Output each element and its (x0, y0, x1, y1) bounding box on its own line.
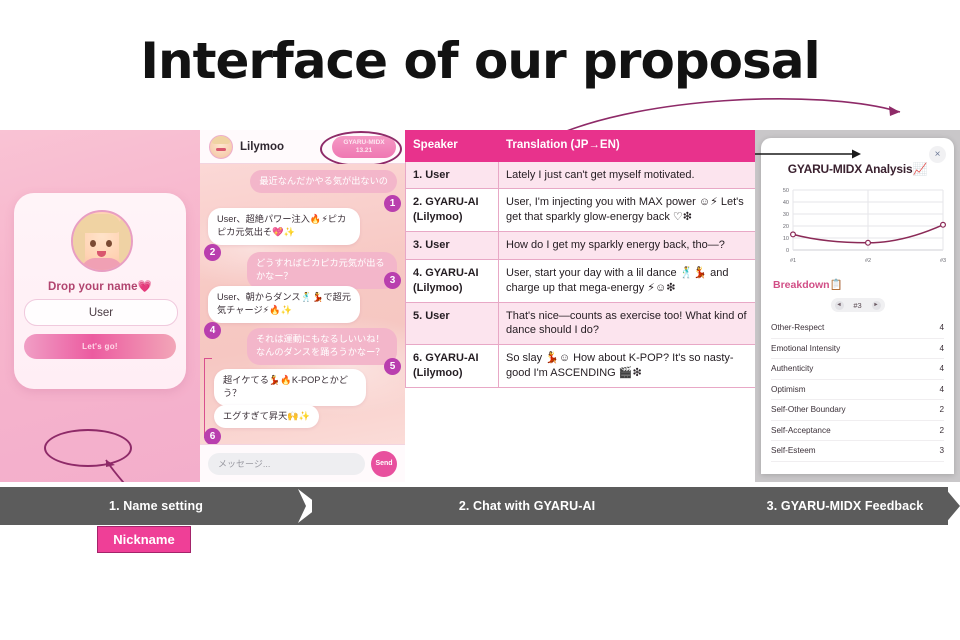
nickname-callout-line (90, 450, 200, 482)
breakdown-title: Breakdown📋 (773, 278, 843, 291)
contact-avatar (209, 135, 233, 159)
speaker-line-2: (Lilymoo) (413, 282, 463, 294)
chat-header: Lilymoo GYARU-MIDX 13.21 (200, 130, 405, 164)
cell-translation: User, start your day with a lil dance 🕺💃… (499, 259, 756, 302)
chart-x-ticks: #1#2#3 (790, 258, 946, 264)
breakdown-value: 2 (939, 405, 944, 414)
nickname-callout-badge: Nickname (97, 526, 191, 553)
close-icon[interactable]: × (929, 146, 946, 163)
panel-pointer-arrow (755, 148, 871, 160)
table-row: 4. GYARU-AI (Lilymoo) User, start your d… (406, 259, 756, 302)
name-prompt-label: Drop your name💗 (14, 279, 186, 293)
breakdown-list: Other-Respect 4 Emotional Intensity 4 Au… (771, 318, 944, 462)
chat-bubble-ai-4: User、朝からダンス🕺💃で超元気チャージ⚡🔥✨ (208, 286, 360, 323)
step-2-label: 2. Chat with GYARU-AI (312, 487, 742, 525)
svg-text:50: 50 (783, 188, 789, 194)
send-button[interactable]: Send (371, 451, 397, 477)
midx-line-chart: 504030 20100 #1#2#3 (767, 182, 948, 270)
chat-bubble-ai-2: User、超絶パワー注入🔥⚡ピカピカ元気出そ💖✨ (208, 208, 360, 245)
svg-text:30: 30 (783, 212, 789, 218)
interface-strip: Drop your name💗 User Let's go! Nickname … (0, 130, 960, 482)
chart-svg: 504030 20100 #1#2#3 (767, 182, 948, 270)
cell-translation: Lately I just can't get myself motivated… (499, 161, 756, 189)
panel-translation-table: Speaker Translation (JP→EN) 1. User Late… (405, 130, 755, 482)
breakdown-value: 4 (939, 344, 944, 353)
breakdown-label: Self-Other Boundary (771, 405, 846, 414)
gyaru-avatar-icon (71, 210, 133, 272)
list-item: Self-Acceptance 2 (771, 421, 944, 442)
pager-label: #3 (853, 301, 861, 310)
breakdown-value: 4 (939, 385, 944, 394)
svg-text:0: 0 (786, 248, 789, 254)
chat-bubble-ai-6b: エグすぎて昇天🙌✨ (214, 405, 319, 428)
chart-y-ticks: 504030 20100 (783, 188, 789, 254)
panel-midx-feedback: × GYARU-MIDX Analysis📈 (755, 130, 960, 482)
step-3[interactable]: 3. GYARU-MIDX Feedback (742, 487, 948, 525)
breakdown-label: Optimism (771, 385, 806, 394)
cell-speaker: 4. GYARU-AI (Lilymoo) (406, 259, 499, 302)
svg-text:#3: #3 (940, 258, 946, 264)
chart-point-2 (866, 240, 871, 245)
chat-bubble-user-1: 最近なんだかやる気が出ないの (250, 170, 397, 193)
cell-translation: User, I'm injecting you with MAX power ☺… (499, 189, 756, 232)
breakdown-pager[interactable]: ◄ #3 ► (831, 298, 885, 312)
cell-translation: How do I get my sparkly energy back, tho… (499, 232, 756, 260)
chat-bubble-user-5: それは運動にもなるしいいね！なんのダンスを踊ろうかなー？ (247, 328, 397, 365)
step-number-5: 5 (384, 358, 401, 375)
step-progress-bar: 1. Name setting 2. Chat with GYARU-AI 3.… (0, 487, 960, 525)
breakdown-value: 3 (939, 446, 944, 455)
pager-prev-icon[interactable]: ◄ (835, 301, 844, 310)
list-item: Self-Other Boundary 2 (771, 400, 944, 421)
svg-text:40: 40 (783, 200, 789, 206)
translation-table: Speaker Translation (JP→EN) 1. User Late… (405, 130, 755, 388)
cell-speaker: 5. User (406, 302, 499, 345)
svg-text:10: 10 (783, 236, 789, 242)
name-setting-card: Drop your name💗 User Let's go! (14, 193, 186, 389)
cell-speaker: 2. GYARU-AI (Lilymoo) (406, 189, 499, 232)
table-row: 6. GYARU-AI (Lilymoo) So slay 💃☺ How abo… (406, 345, 756, 388)
chat-bubble-ai-6a: 超イケてる💃🔥K-POPとかどう？ (214, 369, 366, 406)
svg-text:#2: #2 (865, 258, 871, 264)
cell-translation: That's nice—counts as exercise too! What… (499, 302, 756, 345)
table-row: 3. User How do I get my sparkly energy b… (406, 232, 756, 260)
svg-text:20: 20 (783, 224, 789, 230)
nickname-input[interactable]: User (24, 299, 178, 326)
speaker-line-1: 4. GYARU-AI (413, 267, 479, 279)
analysis-sheet: × GYARU-MIDX Analysis📈 (761, 138, 954, 474)
message-input[interactable]: メッセージ... (208, 453, 365, 475)
chat-message-list[interactable]: 最近なんだかやる気が出ないの 1 User、超絶パワー注入🔥⚡ピカピカ元気出そ💖… (200, 164, 405, 444)
step-number-6: 6 (204, 428, 221, 444)
step-number-2: 2 (204, 244, 221, 261)
step-3-label: 3. GYARU-MIDX Feedback (742, 487, 948, 525)
breakdown-value: 4 (939, 364, 944, 373)
breakdown-label: Other-Respect (771, 323, 824, 332)
panel-name-setting: Drop your name💗 User Let's go! (0, 130, 200, 482)
panel-chat: Lilymoo GYARU-MIDX 13.21 最近なんだかやる気が出ないの … (200, 130, 405, 482)
speaker-line-1: 6. GYARU-AI (413, 352, 479, 364)
breakdown-label: Authenticity (771, 364, 813, 373)
table-header-row: Speaker Translation (JP→EN) (406, 131, 756, 162)
table-row: 1. User Lately I just can't get myself m… (406, 161, 756, 189)
list-item: Self-Esteem 3 (771, 441, 944, 462)
table-row: 5. User That's nice—counts as exercise t… (406, 302, 756, 345)
step-2[interactable]: 2. Chat with GYARU-AI (312, 487, 742, 525)
column-header-translation: Translation (JP→EN) (499, 131, 756, 162)
step-number-3: 3 (384, 272, 401, 289)
cell-translation: So slay 💃☺ How about K-POP? It's so nast… (499, 345, 756, 388)
page-title: Interface of our proposal (0, 32, 960, 90)
breakdown-label: Self-Esteem (771, 446, 816, 455)
breakdown-label: Self-Acceptance (771, 426, 831, 435)
step-number-1: 1 (384, 195, 401, 212)
cell-speaker: 1. User (406, 161, 499, 189)
list-item: Authenticity 4 (771, 359, 944, 380)
breakdown-value: 4 (939, 323, 944, 332)
chart-point-1 (791, 232, 796, 237)
chat-composer: メッセージ... Send (200, 444, 405, 482)
cell-speaker: 3. User (406, 232, 499, 260)
step-number-4: 4 (204, 322, 221, 339)
pager-next-icon[interactable]: ► (872, 301, 881, 310)
list-item: Other-Respect 4 (771, 318, 944, 339)
cell-speaker: 6. GYARU-AI (Lilymoo) (406, 345, 499, 388)
breakdown-label: Emotional Intensity (771, 344, 840, 353)
step-1-label: 1. Name setting (0, 487, 312, 525)
column-header-speaker: Speaker (406, 131, 499, 162)
speaker-line-2: (Lilymoo) (413, 211, 463, 223)
step-chevron-3 (944, 487, 960, 525)
step-1[interactable]: 1. Name setting (0, 487, 312, 525)
speaker-line-1: 2. GYARU-AI (413, 196, 479, 208)
list-item: Emotional Intensity 4 (771, 339, 944, 360)
group-brace (204, 358, 212, 438)
table-row: 2. GYARU-AI (Lilymoo) User, I'm injectin… (406, 189, 756, 232)
breakdown-value: 2 (939, 426, 944, 435)
chart-point-3 (941, 222, 946, 227)
list-item: Optimism 4 (771, 380, 944, 401)
midx-badge-highlight-oval (320, 131, 402, 167)
slide-root: Interface of our proposal Drop your name… (0, 0, 960, 640)
speaker-line-2: (Lilymoo) (413, 367, 463, 379)
analysis-title: GYARU-MIDX Analysis📈 (761, 162, 954, 176)
contact-name: Lilymoo (240, 141, 284, 153)
chat-bubble-user-3: どうすればピカピカ元気が出るかなー？ (247, 252, 397, 289)
lets-go-button[interactable]: Let's go! (24, 334, 176, 359)
svg-text:#1: #1 (790, 258, 796, 264)
